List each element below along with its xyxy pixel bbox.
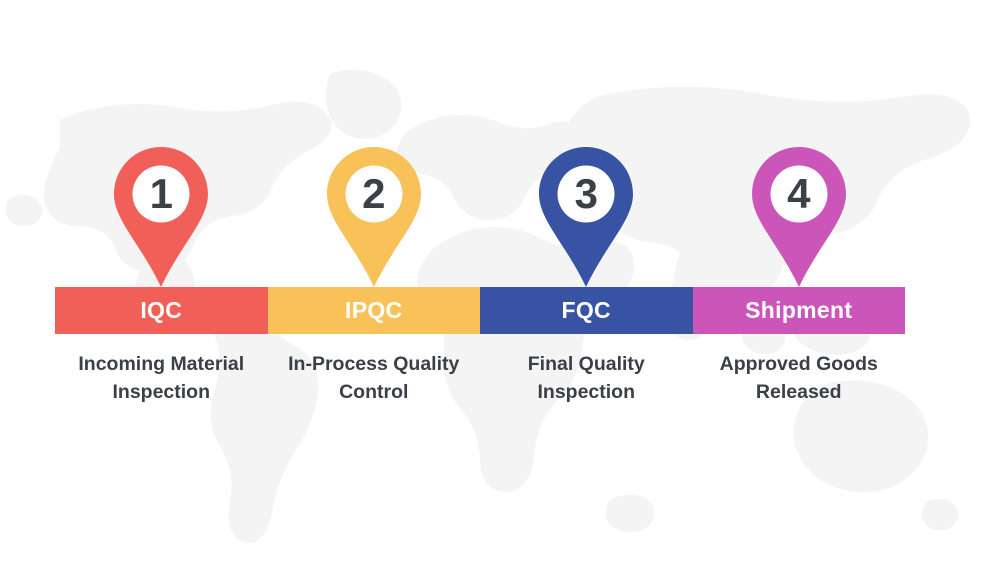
pin-wrapper-2: 2 (268, 0, 481, 287)
map-pin-icon: 1 (114, 147, 208, 287)
pin-number-2: 2 (327, 147, 421, 241)
band-3[interactable]: FQC (480, 287, 693, 334)
band-1[interactable]: IQC (55, 287, 268, 334)
step-description-1: Incoming Material Inspection (55, 351, 268, 406)
pin-number-4: 4 (752, 147, 846, 241)
steps-container: 1 IQC Incoming Material Inspection (55, 0, 905, 406)
pin-number-3: 3 (539, 147, 633, 241)
process-step-2[interactable]: 2 IPQC In-Process Quality Control (268, 0, 481, 406)
process-step-4[interactable]: 4 Shipment Approved Goods Released (693, 0, 906, 406)
band-label-2: IPQC (345, 299, 402, 322)
pin-wrapper-4: 4 (693, 0, 906, 287)
quality-process-flow: 1 IQC Incoming Material Inspection (55, 0, 905, 562)
map-pin-icon: 4 (752, 147, 846, 287)
pin-wrapper-3: 3 (480, 0, 693, 287)
band-2[interactable]: IPQC (268, 287, 481, 334)
band-4[interactable]: Shipment (693, 287, 906, 334)
process-step-1[interactable]: 1 IQC Incoming Material Inspection (55, 0, 268, 406)
band-label-4: Shipment (745, 299, 852, 322)
step-description-2: In-Process Quality Control (268, 351, 481, 406)
pin-number-1: 1 (114, 147, 208, 241)
step-description-4: Approved Goods Released (693, 351, 906, 406)
step-description-3: Final Quality Inspection (480, 351, 693, 406)
infographic-canvas: 1 IQC Incoming Material Inspection (0, 0, 1000, 562)
band-label-1: IQC (140, 299, 182, 322)
map-pin-icon: 3 (539, 147, 633, 287)
pin-wrapper-1: 1 (55, 0, 268, 287)
process-step-3[interactable]: 3 FQC Final Quality Inspection (480, 0, 693, 406)
band-label-3: FQC (562, 299, 611, 322)
map-pin-icon: 2 (327, 147, 421, 287)
